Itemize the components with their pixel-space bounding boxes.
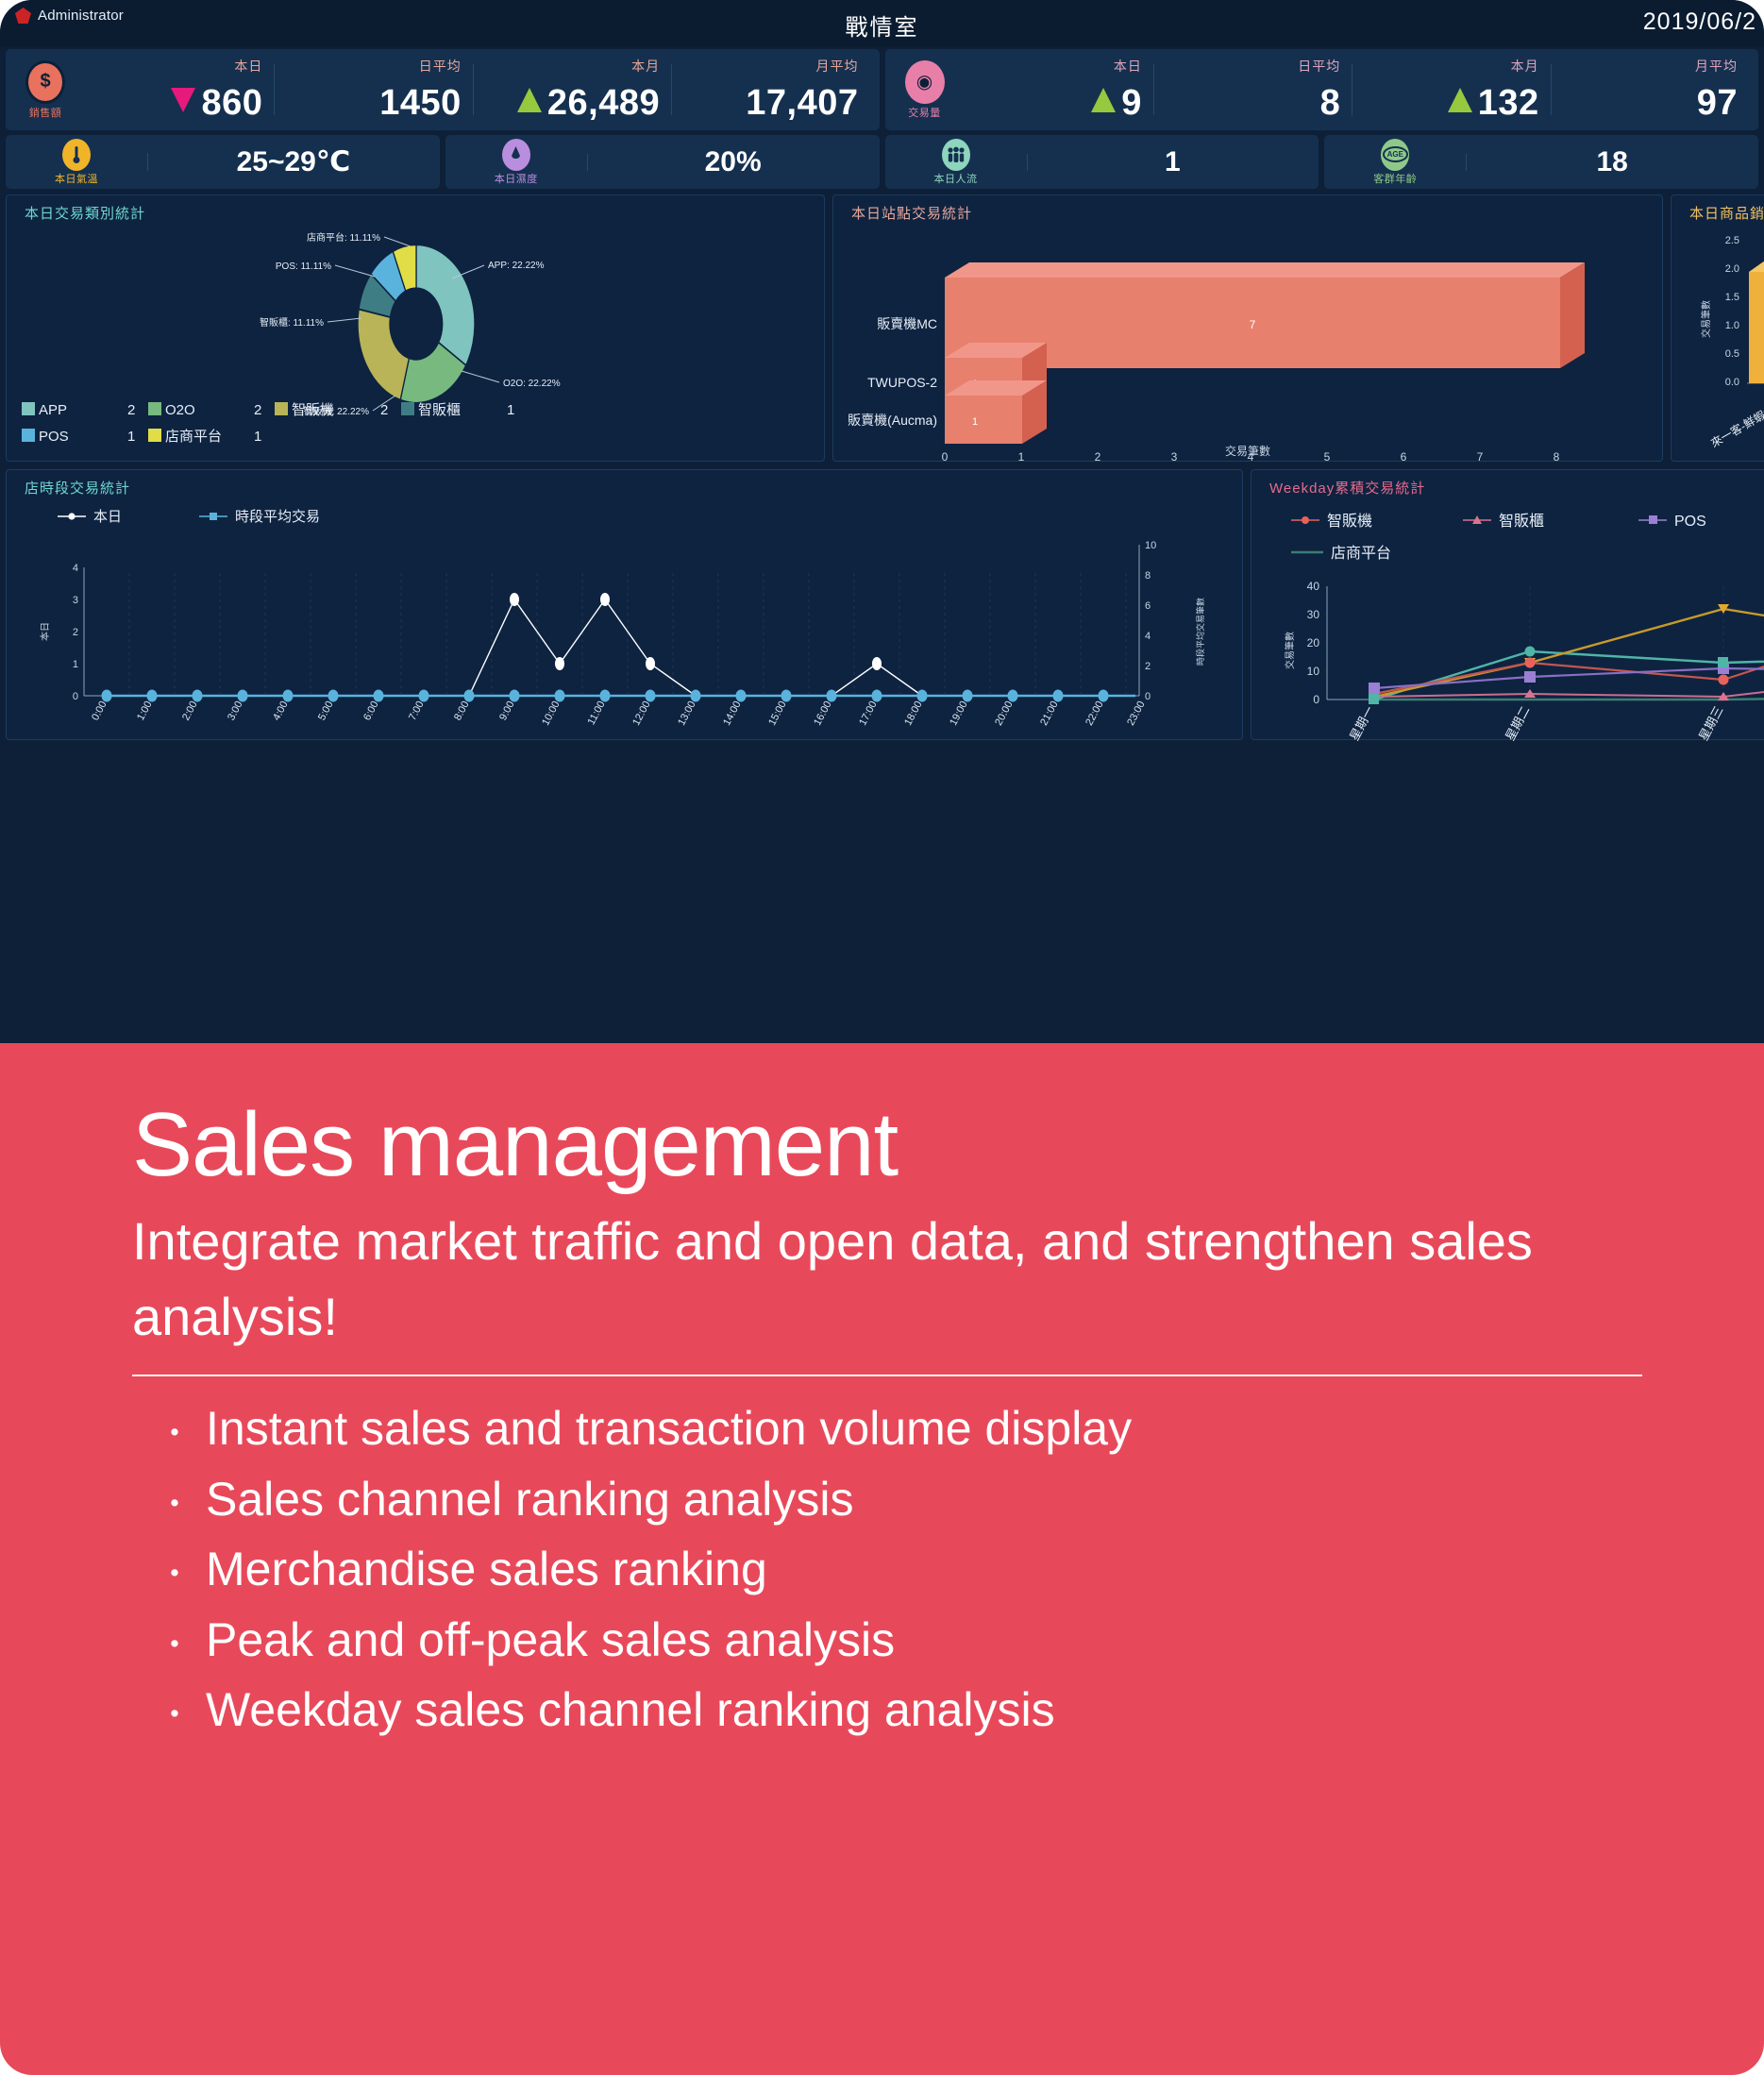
legend-value: 2: [127, 402, 135, 418]
kpi-cell-sales-monthly-avg: 月平均 17,407: [671, 49, 869, 130]
panel-title-product-top5: 本日商品銷售Top5: [1681, 203, 1764, 223]
kpi-label: 本日: [1114, 57, 1142, 76]
promo-list-item: ・Peak and off-peak sales analysis: [159, 1605, 1641, 1676]
env-card-customer-age: AGE 客群年齡 18: [1324, 135, 1758, 189]
bullet-marker-icon: ・: [159, 1559, 191, 1591]
sales-amount-icon-glyph: $: [40, 71, 50, 93]
promo-list-item-label: Weekday sales channel ranking analysis: [206, 1675, 1055, 1746]
env-caption: 本日濕度: [445, 171, 587, 186]
x-tick: 15:00: [766, 700, 789, 728]
age-badge-glyph: AGE: [1383, 146, 1408, 162]
donut-label-app: APP: 22.22%: [488, 261, 545, 271]
donut-label-smart-cabinet: 智販櫃: 11.11%: [260, 316, 324, 329]
bullet-marker-icon: ・: [159, 1489, 191, 1521]
x-tick: 8:00: [452, 700, 472, 723]
promo-panel: Sales management Integrate market traffi…: [0, 1043, 1764, 2075]
trend-up-icon: [1091, 88, 1116, 112]
weekday-legend: 智販機 智販櫃 POS O2O APP 店商平台: [1291, 513, 1764, 562]
kpi-group-sales-amount: $ 銷售額 本日 860 日平均 1450 本月 26,489: [6, 49, 880, 130]
kpi-caption-transaction-volume: 交易量: [895, 105, 955, 120]
y-tick-right: 0: [1145, 691, 1151, 702]
bar-category-label: TWUPOS-2: [867, 375, 937, 390]
legend-value: 2: [380, 402, 388, 418]
env-caption: 本日人流: [885, 171, 1027, 186]
legend-label-hourly-avg: 時段平均交易: [235, 508, 320, 525]
trend-down-icon: [171, 88, 195, 112]
x-tick: 22:00: [1084, 700, 1106, 728]
donut-label-ec-platform: 店商平台: 11.11%: [307, 231, 380, 244]
people-glyph: [947, 146, 966, 163]
kpi-row-environment: 本日氣溫 25~29℃ 本日濕度 20%: [0, 130, 1764, 189]
kpi-label: 本日: [234, 57, 262, 76]
weekday-line-chart: 智販機 智販櫃 POS O2O APP 店商平台: [1261, 499, 1764, 743]
bar-vending-aucma: 1: [945, 380, 1047, 444]
panel-product-top5: 本日商品銷售Top5 0.0 0.5 1.0 1.5 2.0 2.5 交易筆數: [1671, 194, 1764, 462]
kpi-cell-tx-month: 本月 132: [1352, 49, 1550, 130]
kpi-label: 日平均: [1298, 57, 1340, 76]
x-tick: 星期三: [1696, 703, 1726, 742]
sales-amount-icon: $ 銷售額: [15, 60, 76, 120]
y-tick: 1.0: [1725, 320, 1739, 331]
x-tick: 1:00: [135, 700, 155, 723]
page-root: Administrator 戰情室 2019/06/2 $ 銷售額 本日 860: [0, 0, 1764, 2075]
kpi-cell-tx-daily-avg: 日平均 8: [1153, 49, 1352, 130]
x-tick: 20:00: [993, 700, 1016, 728]
x-tick: 0:00: [90, 700, 109, 723]
x-tick: 10:00: [540, 700, 563, 728]
promo-list-item: ・Weekday sales channel ranking analysis: [159, 1675, 1641, 1746]
kpi-cell-sales-today: 本日 860: [76, 49, 274, 130]
weekday-markers-pos: [1369, 598, 1764, 694]
x-tick: 3:00: [226, 700, 245, 723]
charts-area: 本日交易類別統計 .dl{font-size:10px;fill:#e6eef7…: [0, 189, 1764, 753]
kpi-value: 132: [1448, 85, 1539, 121]
y-tick: 2.5: [1725, 235, 1739, 246]
x-tick: 14:00: [721, 700, 744, 728]
site-bar-chart: 7 販賣機MC 1 TWUPOS-2: [843, 225, 1653, 463]
y-tick: 10: [1307, 665, 1320, 678]
donut-label-o2o: O2O: 22.22%: [503, 379, 561, 389]
y-tick: 0.5: [1725, 348, 1739, 360]
thermometer-icon: 本日氣溫: [6, 139, 147, 186]
transaction-volume-icon: ◉ 交易量: [895, 60, 955, 120]
weekday-ylabel: 交易筆數: [1284, 632, 1296, 669]
legend-value: 1: [254, 429, 261, 445]
env-value-customer-age: 18: [1466, 146, 1758, 178]
legend-label: 店商平台: [1331, 545, 1391, 562]
legend-label: 智販機: [1327, 513, 1372, 530]
legend-label: 店商平台: [165, 429, 222, 445]
y-tick: 0: [1313, 693, 1319, 706]
y-tick-left: 1: [73, 659, 78, 670]
dashboard-topbar: Administrator 戰情室 2019/06/2: [0, 0, 1764, 47]
legend-label: 智販機: [292, 401, 334, 418]
panel-transaction-category: 本日交易類別統計 .dl{font-size:10px;fill:#e6eef7…: [6, 194, 825, 462]
legend-label-today: 本日: [93, 509, 122, 525]
x-tick: 4:00: [271, 700, 291, 723]
x-tick: 13:00: [676, 700, 698, 728]
promo-feature-list: ・Instant sales and transaction volume di…: [132, 1393, 1641, 1746]
env-value-humidity: 20%: [587, 146, 880, 178]
y-tick: 20: [1307, 636, 1320, 649]
y-tick-left: 4: [73, 563, 78, 574]
promo-heading: Sales management: [132, 1100, 1641, 1190]
bullet-marker-icon: ・: [159, 1629, 191, 1662]
promo-list-item-label: Peak and off-peak sales analysis: [206, 1605, 895, 1676]
hourly-ylabel-left: 本日: [39, 622, 51, 641]
env-caption: 本日氣溫: [6, 171, 147, 186]
promo-list-item: ・Merchandise sales ranking: [159, 1534, 1641, 1605]
top5-bars: 2 2 2 1 1: [1749, 259, 1764, 383]
bar-value: 7: [1250, 318, 1256, 331]
y-tick-right: 6: [1145, 600, 1151, 612]
trend-up-icon: [517, 88, 542, 112]
dashboard-title: 戰情室: [0, 8, 1764, 42]
top5-bar-chart: 0.0 0.5 1.0 1.5 2.0 2.5 交易筆數 2 2: [1681, 225, 1764, 465]
y-tick-right: 8: [1145, 570, 1151, 582]
kpi-value: 860: [171, 85, 262, 121]
promo-subheading: Integrate market traffic and open data, …: [132, 1204, 1623, 1354]
y-tick-right: 4: [1145, 631, 1151, 642]
promo-list-item-label: Sales channel ranking analysis: [206, 1464, 854, 1535]
x-tick: 16:00: [812, 700, 834, 728]
x-tick: 6:00: [361, 700, 381, 723]
x-tick: 12:00: [630, 700, 653, 728]
kpi-value: 8: [1320, 85, 1341, 121]
legend-value: 2: [254, 402, 261, 418]
humidity-drop-icon: 本日濕度: [445, 139, 587, 186]
x-tick: 19:00: [948, 700, 970, 728]
x-tick: 18:00: [902, 700, 925, 728]
x-tick: 11:00: [586, 700, 608, 727]
current-date-label: 2019/06/2: [1643, 8, 1756, 36]
bar-category-label: 販賣機(Aucma): [848, 413, 937, 428]
panel-title-hourly-transactions: 店時段交易統計: [16, 478, 1233, 498]
kpi-cell-tx-monthly-avg: 月平均 97: [1551, 49, 1749, 130]
transaction-volume-icon-glyph: ◉: [916, 70, 932, 93]
weekday-series-vending-machine: [1374, 617, 1764, 694]
promo-list-item: ・Sales channel ranking analysis: [159, 1464, 1641, 1535]
legend-label: O2O: [165, 402, 195, 418]
bar-category-label: 販賣機MC: [877, 316, 937, 331]
kpi-value: 1450: [379, 85, 462, 121]
x-tick: 9:00: [497, 700, 517, 723]
x-tick: 17:00: [857, 700, 880, 728]
env-card-temperature: 本日氣溫 25~29℃: [6, 135, 440, 189]
bullet-marker-icon: ・: [159, 1699, 191, 1731]
legend-label: POS: [1674, 514, 1706, 530]
legend-label: 智販櫃: [418, 401, 461, 418]
env-card-humidity: 本日濕度 20%: [445, 135, 880, 189]
y-tick: 2.0: [1725, 263, 1739, 275]
env-value-temperature: 25~29℃: [147, 145, 440, 178]
y-tick: 1.5: [1725, 292, 1739, 303]
hourly-line-chart: 本日 時段平均交易 0: [16, 499, 1233, 743]
hourly-legend: 本日 時段平均交易: [58, 508, 320, 525]
y-tick: 30: [1307, 608, 1320, 621]
dashboard-screenshot: Administrator 戰情室 2019/06/2 $ 銷售額 本日 860: [0, 0, 1764, 1043]
x-tick: 5:00: [316, 700, 336, 723]
env-caption: 客群年齡: [1324, 171, 1466, 186]
top5-category-label: 來一客-鮮蝦魚板: [1708, 396, 1764, 450]
x-tick: 星期二: [1503, 703, 1533, 742]
weekday-series-pos: [1374, 603, 1764, 688]
kpi-label: 月平均: [816, 57, 859, 76]
kpi-cell-sales-month: 本月 26,489: [473, 49, 671, 130]
promo-list-item-label: Merchandise sales ranking: [206, 1534, 767, 1605]
kpi-cell-tx-today: 本日 9: [955, 49, 1153, 130]
bar-value: 1: [972, 416, 978, 428]
y-tick-right: 2: [1145, 661, 1151, 672]
y-tick: 0.0: [1725, 377, 1739, 388]
panel-hourly-transactions: 店時段交易統計 本日 時段平均交易: [6, 469, 1243, 740]
kpi-label: 月平均: [1695, 57, 1738, 76]
kpi-group-transaction-volume: ◉ 交易量 本日 9 日平均 8 本月 132: [885, 49, 1759, 130]
kpi-value: 97: [1697, 85, 1738, 121]
promo-list-item: ・Instant sales and transaction volume di…: [159, 1393, 1641, 1464]
bar-product-1: 2: [1749, 259, 1764, 383]
hourly-series-today: [107, 599, 1135, 696]
kpi-row-primary: $ 銷售額 本日 860 日平均 1450 本月 26,489: [0, 47, 1764, 130]
thermometer-glyph: [71, 145, 82, 164]
x-tick: 23:00: [1125, 700, 1148, 728]
y-tick-right: 10: [1145, 540, 1156, 551]
panel-site-transactions: 本日站點交易統計 7 販賣機MC: [832, 194, 1663, 462]
x-tick: 21:00: [1038, 700, 1061, 728]
hourly-ylabel-right: 時段平均交易筆數: [1195, 598, 1205, 666]
trend-up-icon: [1448, 88, 1472, 112]
y-tick-left: 2: [73, 627, 78, 638]
x-tick: 星期一: [1347, 703, 1377, 742]
kpi-label: 本月: [631, 57, 660, 76]
panel-title-transaction-category: 本日交易類別統計: [16, 203, 815, 223]
bullet-marker-icon: ・: [159, 1418, 191, 1450]
x-tick: 2:00: [180, 700, 200, 723]
kpi-value: 17,407: [746, 85, 858, 121]
x-tick: 7:00: [407, 700, 427, 723]
customer-age-icon: AGE 客群年齡: [1324, 139, 1466, 186]
panel-title-site-transactions: 本日站點交易統計: [843, 203, 1653, 223]
env-value-foot-traffic: 1: [1027, 146, 1319, 178]
kpi-label: 日平均: [419, 57, 462, 76]
legend-label: APP: [39, 402, 67, 418]
water-drop-glyph: [510, 145, 522, 163]
kpi-value: 26,489: [517, 85, 660, 121]
kpi-caption-sales-amount: 銷售額: [15, 105, 76, 120]
top5-ylabel: 交易筆數: [1700, 300, 1712, 338]
env-card-foot-traffic: 本日人流 1: [885, 135, 1319, 189]
y-tick-left: 3: [73, 595, 78, 606]
kpi-value: 9: [1091, 85, 1142, 121]
panel-title-weekday-transactions: Weekday累積交易統計: [1261, 478, 1764, 498]
y-tick: 40: [1307, 580, 1320, 593]
site-chart-xlabel: 交易筆數: [833, 443, 1662, 459]
promo-list-item-label: Instant sales and transaction volume dis…: [206, 1393, 1132, 1464]
legend-label: 智販櫃: [1499, 513, 1544, 530]
legend-label: POS: [39, 429, 69, 445]
hourly-today-markers: [510, 593, 882, 670]
kpi-cell-sales-daily-avg: 日平均 1450: [274, 49, 472, 130]
kpi-label: 本月: [1511, 57, 1539, 76]
panel-weekday-transactions: Weekday累積交易統計 智販機 智販櫃 POS O2O: [1251, 469, 1764, 740]
y-tick-left: 0: [73, 691, 78, 702]
legend-value: 1: [127, 429, 135, 445]
foot-traffic-icon: 本日人流: [885, 139, 1027, 186]
donut-legend: APP2 O2O2 智販機2 智販櫃1 POS1 店商平台1: [16, 396, 816, 455]
legend-value: 1: [507, 402, 514, 418]
promo-divider: [132, 1375, 1642, 1376]
donut-label-pos: POS: 11.11%: [276, 261, 331, 272]
